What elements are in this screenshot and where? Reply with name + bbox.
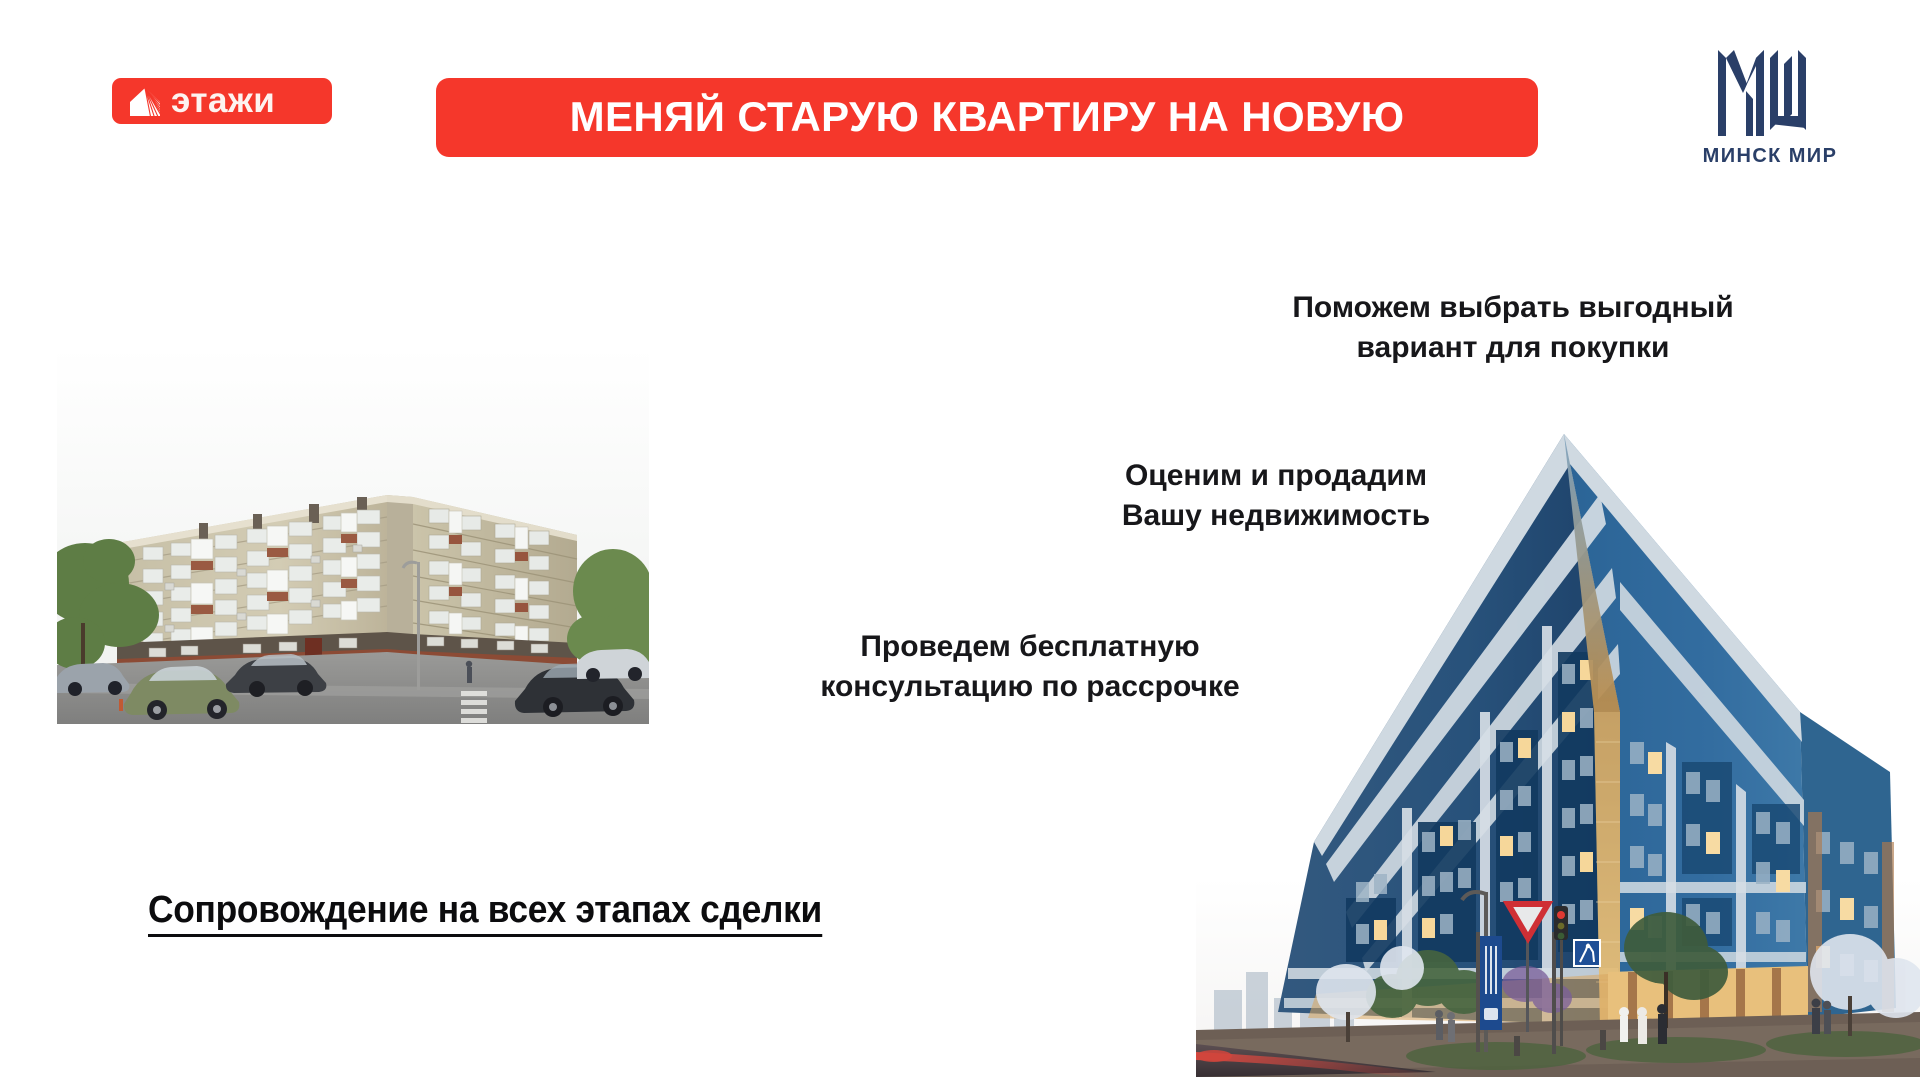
closing-statement: Сопровождение на всех этапах сделки [148,890,822,937]
benefit-text-choose: Поможем выбрать выгодный вариант для пок… [1232,288,1794,368]
slide-canvas: этажи МЕНЯЙ СТАРУЮ КВАРТИРУ НА НОВУЮ [0,0,1920,1080]
minsk-mir-partner-logo[interactable]: МИНСК МИР [1700,44,1840,179]
headline-text: МЕНЯЙ СТАРУЮ КВАРТИРУ НА НОВУЮ [570,96,1405,138]
minsk-mir-logo-text: МИНСК МИР [1703,145,1838,168]
benefit-text-consult: Проведем бесплатную консультацию по расс… [770,627,1290,707]
etazhi-logo-text: этажи [171,83,275,118]
photo-old-building [57,347,649,724]
benefit-text-appraise: Оценим и продадим Вашу недвижимость [1050,456,1502,536]
mw-monogram-icon [1714,44,1826,140]
etazhi-brand-logo[interactable]: этажи [112,78,332,124]
house-with-stripes-icon [128,87,162,117]
headline-banner: МЕНЯЙ СТАРУЮ КВАРТИРУ НА НОВУЮ [436,78,1538,157]
